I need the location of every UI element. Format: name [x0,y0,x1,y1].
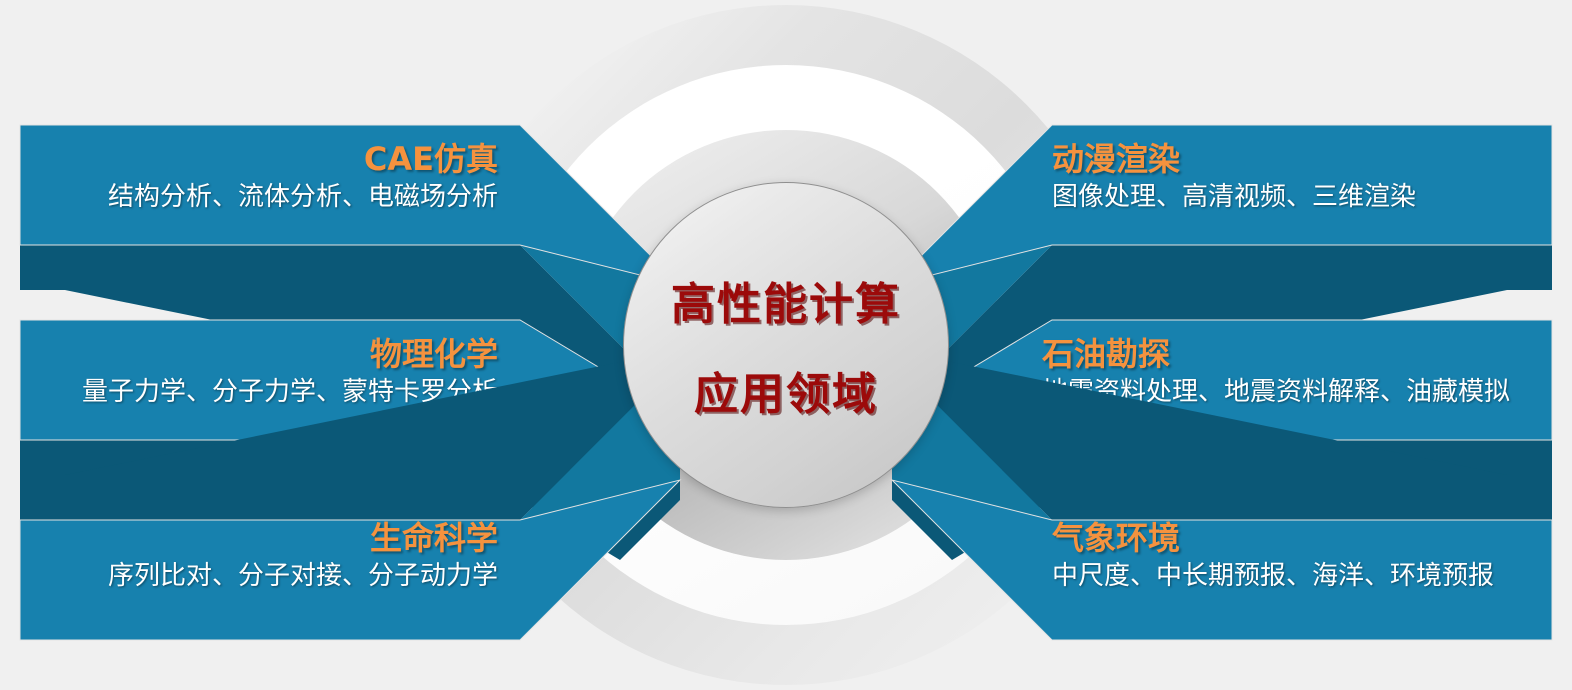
arrow-shape [892,415,1552,640]
hub-title-line1: 高性能计算 [671,268,901,332]
arrow-meteorology-environment[interactable]: 气象环境 中尺度、中长期预报、海洋、环境预报 [892,415,1552,640]
arrow-life-science[interactable]: 生命科学 序列比对、分子对接、分子动力学 [20,415,680,640]
arrow-shape [20,125,680,290]
arrow-shape [892,125,1552,290]
arrow-animation-rendering[interactable]: 动漫渲染 图像处理、高清视频、三维渲染 [892,125,1552,290]
hub-title-line2: 应用领域 [694,358,878,422]
center-hub: 高性能计算 应用领域 [623,182,949,508]
arrow-cae-simulation[interactable]: CAE仿真 结构分析、流体分析、电磁场分析 [20,125,680,290]
hpc-application-domains-diagram: CAE仿真 结构分析、流体分析、电磁场分析 物理化学 量子力学、分子力学、蒙特卡… [0,0,1572,690]
arrow-shape [20,415,680,640]
